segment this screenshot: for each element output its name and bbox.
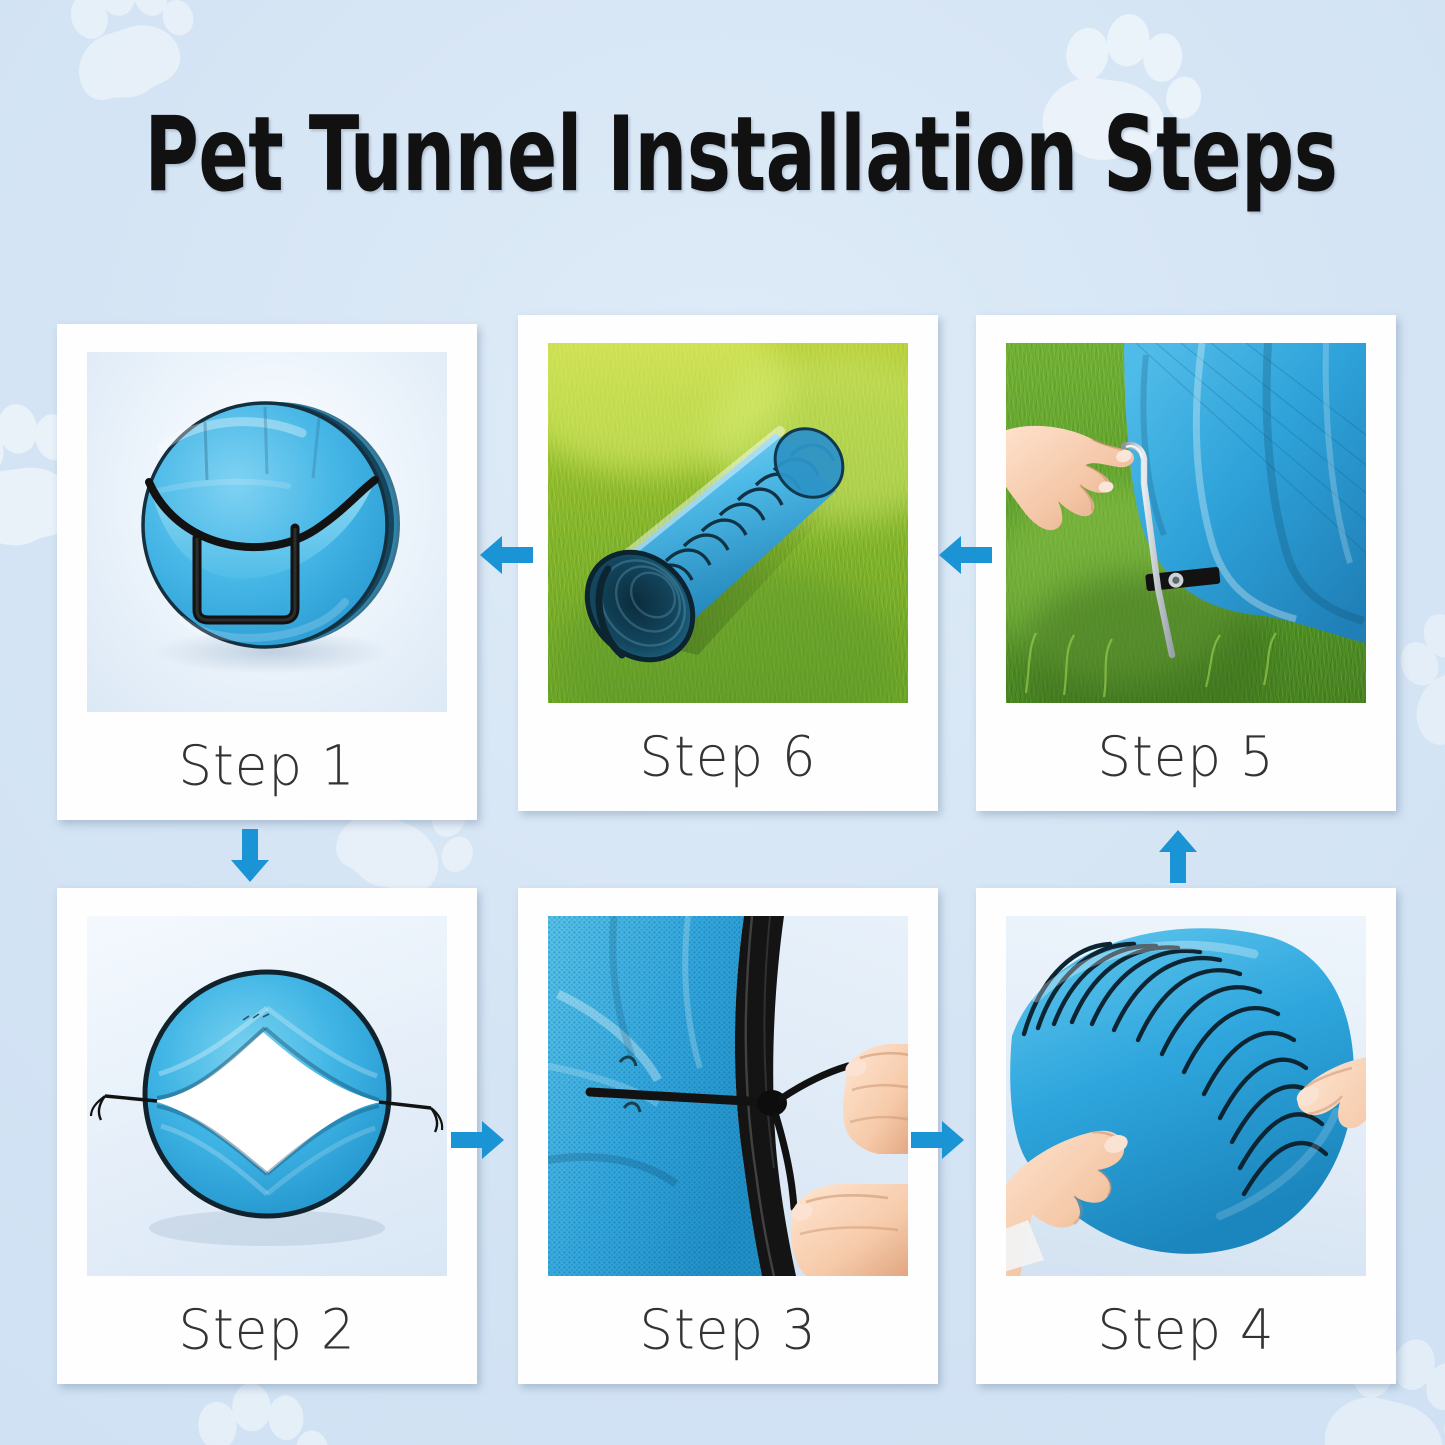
step-label: Step 2 [178, 1298, 355, 1361]
step-label: Step 5 [1097, 725, 1274, 788]
step-caption: Step 4 [976, 1276, 1396, 1384]
step-label: Step 3 [639, 1298, 816, 1361]
step-photo-step-5 [1006, 343, 1366, 703]
arrow-step1-to-step2 [220, 826, 280, 886]
step-photo-step-2 [87, 916, 447, 1276]
step-caption: Step 5 [976, 703, 1396, 811]
step-photo-step-4 [1006, 916, 1366, 1276]
step-card-step-6[interactable]: Step 6 [518, 315, 938, 811]
arrow-step3-to-step4 [908, 1110, 968, 1170]
step-card-step-1[interactable]: Step 1 [57, 324, 477, 820]
arrow-step6-to-step1 [476, 525, 536, 585]
step-card-step-4[interactable]: Step 4 [976, 888, 1396, 1384]
step-photo-step-6 [548, 343, 908, 703]
step-label: Step 1 [178, 734, 355, 797]
step-caption: Step 3 [518, 1276, 938, 1384]
step-label: Step 6 [639, 725, 816, 788]
step-caption: Step 6 [518, 703, 938, 811]
step-photo-step-1 [87, 352, 447, 712]
arrow-step5-to-step6 [935, 525, 995, 585]
arrow-step4-to-step5 [1148, 826, 1208, 886]
step-photo-step-3 [548, 916, 908, 1276]
page-title: Pet Tunnel Installation Steps [145, 95, 1301, 215]
arrow-step2-to-step3 [448, 1110, 508, 1170]
step-card-step-3[interactable]: Step 3 [518, 888, 938, 1384]
infographic-canvas: Pet Tunnel Installation Steps [0, 0, 1445, 1445]
step-label: Step 4 [1097, 1298, 1274, 1361]
step-card-step-2[interactable]: Step 2 [57, 888, 477, 1384]
step-caption: Step 2 [57, 1276, 477, 1384]
step-caption: Step 1 [57, 712, 477, 820]
step-card-step-5[interactable]: Step 5 [976, 315, 1396, 811]
